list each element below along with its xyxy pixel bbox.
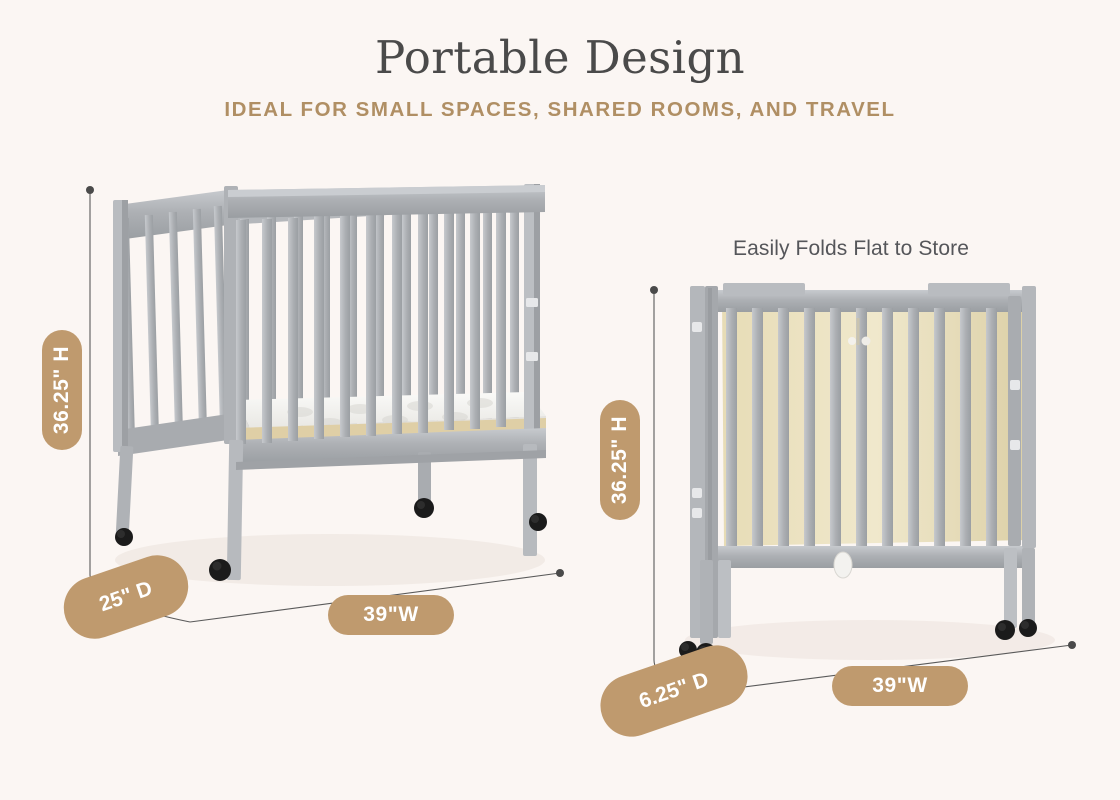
latch-hole-left xyxy=(848,337,856,345)
dimension-badge-height-folded-label: 36.25" H xyxy=(608,416,632,504)
fold-tab-left xyxy=(723,283,805,295)
dimension-badge-depth-folded-label: 6.25" D xyxy=(636,668,712,714)
dimension-badge-width-folded-label: 39"W xyxy=(872,674,928,698)
fold-tab-right xyxy=(928,283,1010,295)
fold-latch-pull xyxy=(834,552,852,578)
dimension-badge-width-open-label: 39"W xyxy=(363,603,419,627)
dimension-badge-depth-folded: 6.25" D xyxy=(592,637,756,745)
fold-note-label: Easily Folds Flat to Store xyxy=(733,237,969,261)
dimension-endpoint-dots-left xyxy=(86,186,564,577)
page-title: Portable Design xyxy=(0,33,1120,83)
latch-hole-right xyxy=(862,337,871,346)
dimension-badge-height-open: 36.25" H xyxy=(42,330,82,450)
folded-hinge-post-inner xyxy=(705,286,718,638)
page-subtitle: IDEAL FOR SMALL SPACES, SHARED ROOMS, AN… xyxy=(0,98,1120,122)
dimension-badge-height-folded: 36.25" H xyxy=(600,400,640,520)
dimension-badge-width-folded: 39"W xyxy=(832,666,968,706)
dimension-badge-depth-open: 25" D xyxy=(55,547,196,647)
crib-open-illustration xyxy=(113,184,547,586)
dimension-badge-width-open: 39"W xyxy=(328,595,454,635)
crib-folded-illustration xyxy=(679,283,1055,663)
dimension-endpoint-dots-right xyxy=(650,286,1076,649)
diagram-canvas: Portable Design IDEAL FOR SMALL SPACES, … xyxy=(0,0,1120,800)
crib-folded-dimension-lines xyxy=(654,290,1072,692)
dimension-badge-height-open-label: 36.25" H xyxy=(50,346,74,434)
folded-hinge-post-outer xyxy=(690,286,705,638)
dimension-badge-depth-open-label: 25" D xyxy=(96,577,155,617)
